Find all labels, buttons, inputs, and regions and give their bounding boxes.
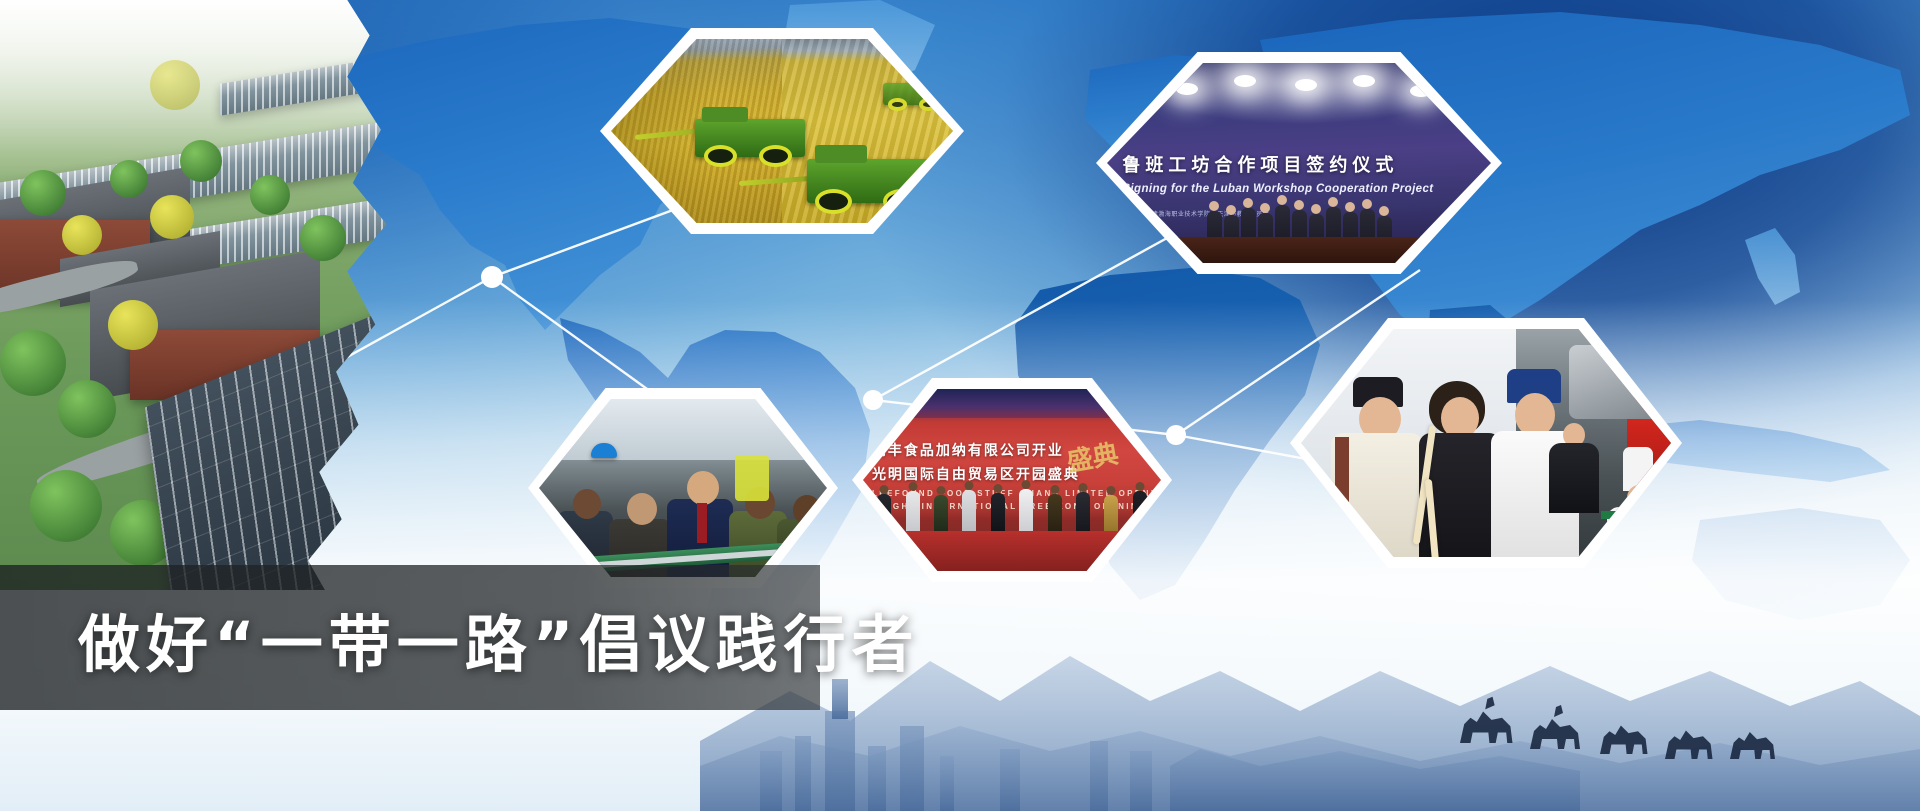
harvester-wheel bbox=[815, 189, 853, 215]
luban-banner-chinese: 鲁班工坊合作项目签约仪式 bbox=[1122, 151, 1483, 177]
tree bbox=[150, 195, 194, 239]
tree bbox=[108, 300, 158, 350]
tree bbox=[58, 380, 116, 438]
person-body bbox=[1549, 443, 1599, 513]
harvester-cab bbox=[815, 145, 868, 163]
hex-tile-delegation[interactable] bbox=[528, 388, 838, 588]
tree bbox=[0, 330, 66, 396]
luban-banner-english: Signing for the Luban Workshop Cooperati… bbox=[1122, 183, 1483, 195]
harvester-wheel bbox=[759, 145, 792, 167]
person-head bbox=[627, 493, 657, 525]
harvester-wheel bbox=[704, 145, 737, 167]
hex-tile-leefound-ghana[interactable]: 利丰食品加纳有限公司开业 光明国际自由贸易区开园盛典 LEEFOUND FOOD… bbox=[852, 378, 1172, 582]
belt-and-road-banner: 鲁班工坊合作项目签约仪式 Signing for the Luban Works… bbox=[0, 0, 1920, 811]
tree bbox=[250, 175, 290, 215]
tree bbox=[20, 170, 66, 216]
hex-tile-chef-demo[interactable] bbox=[1290, 318, 1682, 568]
harvester-wheel bbox=[888, 98, 907, 111]
kitchen-equipment bbox=[1569, 345, 1671, 419]
harvester-cab bbox=[702, 107, 748, 122]
tree bbox=[180, 140, 222, 182]
tree bbox=[150, 60, 200, 110]
hex-tile-wheat-harvest[interactable] bbox=[600, 28, 964, 234]
person-head bbox=[687, 471, 719, 505]
tree bbox=[110, 160, 148, 198]
signing-desk bbox=[1107, 237, 1491, 263]
safety-vest bbox=[735, 455, 769, 501]
necktie bbox=[697, 503, 707, 543]
stage-light bbox=[1234, 75, 1256, 87]
hex-tile-luban-workshop[interactable]: 鲁班工坊合作项目签约仪式 Signing for the Luban Works… bbox=[1096, 52, 1502, 274]
stage-light bbox=[1353, 75, 1375, 87]
person-head bbox=[573, 489, 601, 519]
stage-light bbox=[1295, 79, 1317, 91]
combine-harvester bbox=[695, 119, 805, 157]
page-title: 做好“一带一路”倡议践行者 bbox=[78, 586, 838, 691]
tree bbox=[30, 470, 102, 542]
tree bbox=[300, 215, 346, 261]
combine-harvester bbox=[929, 61, 953, 77]
tree bbox=[62, 215, 102, 255]
hard-hat bbox=[591, 443, 617, 458]
